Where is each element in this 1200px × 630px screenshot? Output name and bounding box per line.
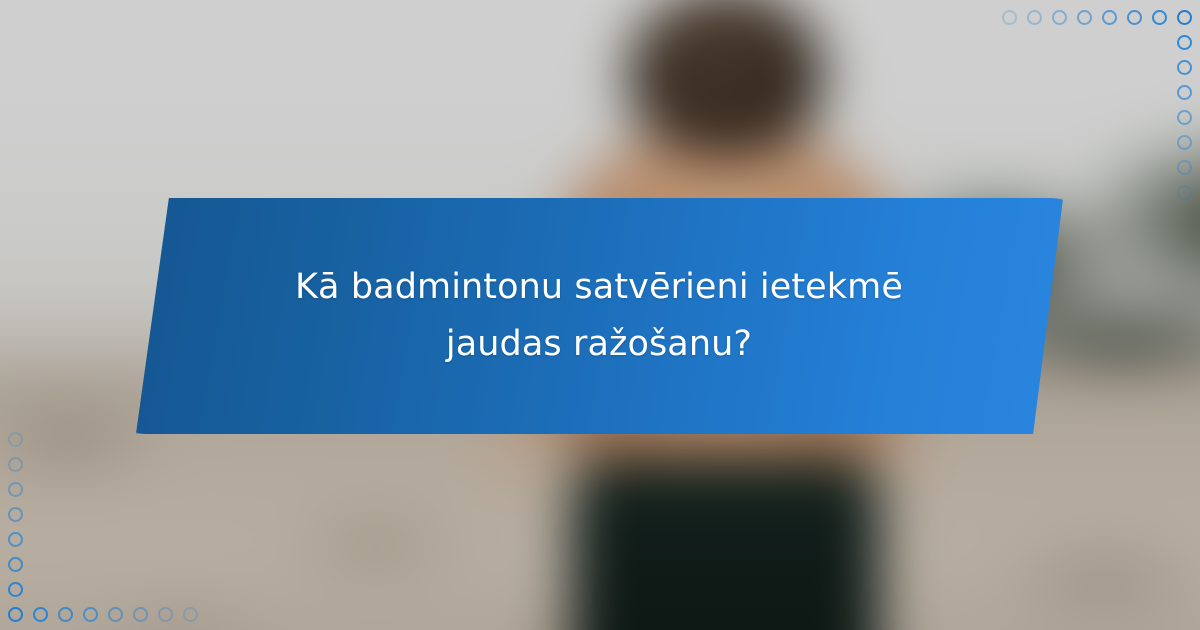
decorative-dot xyxy=(1027,10,1042,25)
decorative-dot xyxy=(1152,10,1167,25)
page-title: Kā badmintonu satvērieni ietekmē jaudas … xyxy=(234,259,964,372)
decorative-dot xyxy=(183,607,198,622)
decorative-dots-top-right xyxy=(990,0,1200,185)
decorative-dot xyxy=(33,607,48,622)
decorative-dot xyxy=(1177,185,1192,200)
decorative-dot xyxy=(58,607,73,622)
decorative-dot xyxy=(1177,160,1192,175)
decorative-dot xyxy=(83,607,98,622)
decorative-dot xyxy=(1177,35,1192,50)
decorative-dot xyxy=(108,607,123,622)
poster-canvas: Kā badmintonu satvērieni ietekmē jaudas … xyxy=(0,0,1200,630)
decorative-dot xyxy=(1002,10,1017,25)
decorative-dot xyxy=(8,432,23,447)
decorative-dot xyxy=(8,532,23,547)
decorative-dot xyxy=(1177,135,1192,150)
decorative-dot xyxy=(8,557,23,572)
decorative-dots-bottom-left xyxy=(0,440,210,630)
decorative-dot xyxy=(158,607,173,622)
decorative-dot xyxy=(1052,10,1067,25)
person-shorts xyxy=(572,458,880,630)
decorative-dot xyxy=(8,507,23,522)
decorative-dot xyxy=(133,607,148,622)
decorative-dot xyxy=(1127,10,1142,25)
decorative-dot xyxy=(1177,10,1192,25)
decorative-dot xyxy=(1077,10,1092,25)
decorative-dot xyxy=(1177,85,1192,100)
decorative-dot xyxy=(1102,10,1117,25)
decorative-dot xyxy=(8,582,23,597)
title-card: Kā badmintonu satvērieni ietekmē jaudas … xyxy=(100,198,1098,434)
decorative-dot xyxy=(1177,110,1192,125)
decorative-dot xyxy=(8,607,23,622)
decorative-dot xyxy=(8,457,23,472)
person-head xyxy=(628,0,824,156)
decorative-dot xyxy=(1177,60,1192,75)
decorative-dot xyxy=(8,482,23,497)
